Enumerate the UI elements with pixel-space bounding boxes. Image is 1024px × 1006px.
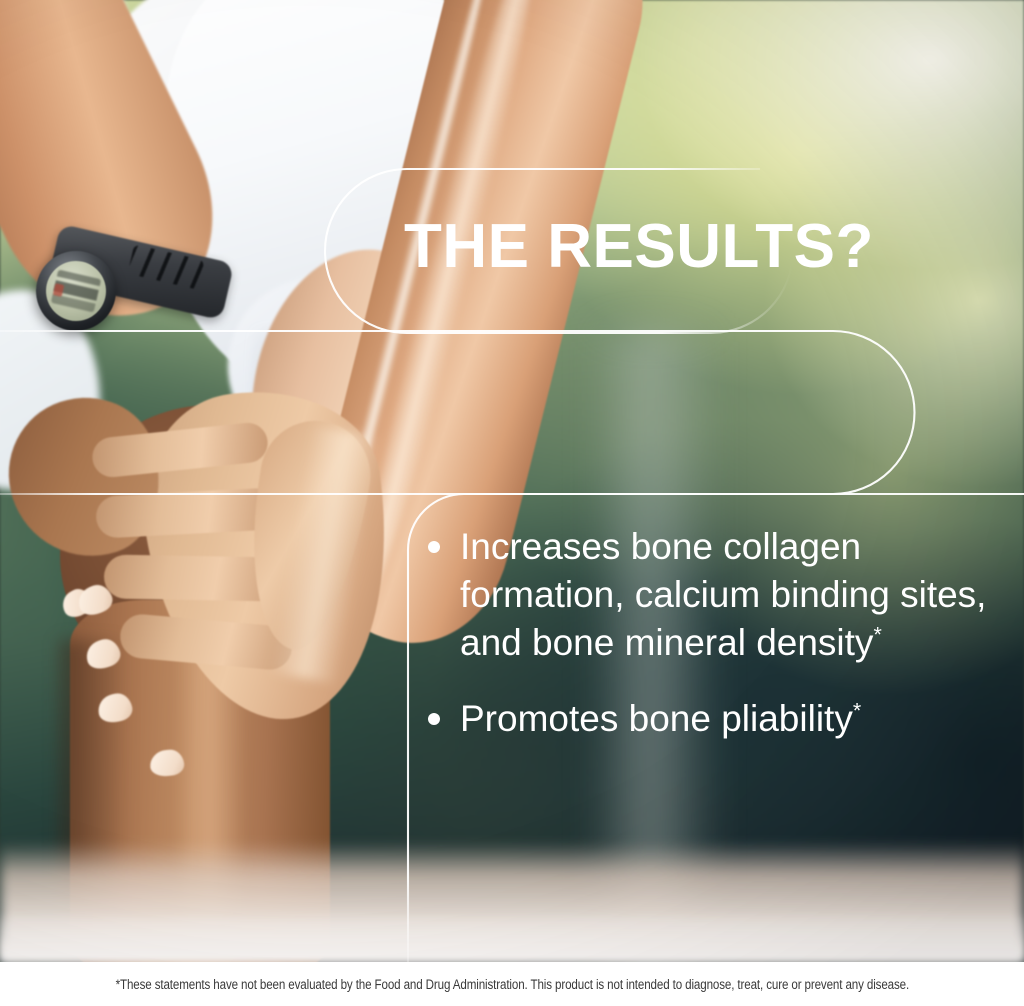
headline: THE RESULTS? (404, 214, 924, 279)
bullet-dot-icon (428, 541, 440, 553)
disclaimer-text: *These statements have not been evaluate… (115, 977, 909, 992)
outline-graphics (0, 0, 1024, 962)
outline-pill-headline (325, 0, 793, 333)
poster-canvas: THE RESULTS? Increases bone collagen for… (0, 0, 1024, 1006)
benefits-list: Increases bone collagen formation, calci… (428, 523, 994, 743)
footnote-marker: * (853, 699, 861, 723)
bullet-dot-icon (428, 713, 440, 725)
footer-disclaimer-bar: *These statements have not been evaluate… (0, 962, 1024, 1006)
list-item-label: Promotes bone pliability* (460, 695, 994, 743)
footnote-marker: * (873, 623, 881, 647)
list-item: Increases bone collagen formation, calci… (428, 523, 994, 667)
outline-pill-midband (0, 331, 915, 494)
hero-photo: THE RESULTS? Increases bone collagen for… (0, 0, 1024, 962)
list-item: Promotes bone pliability* (428, 695, 994, 743)
list-item-label: Increases bone collagen formation, calci… (460, 523, 994, 667)
